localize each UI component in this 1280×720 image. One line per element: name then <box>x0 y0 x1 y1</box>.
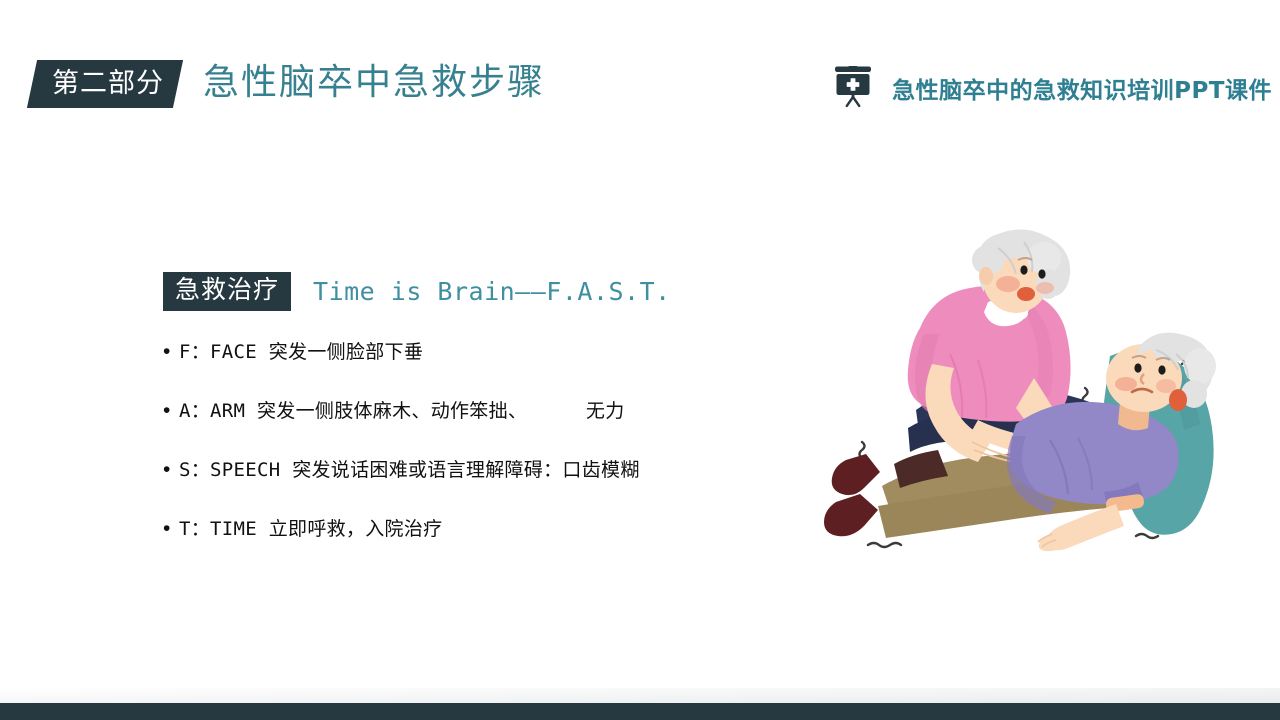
lead-chip-label: 急救治疗 <box>163 272 291 310</box>
stroke-first-aid-illustration <box>820 228 1240 573</box>
list-item: • A：ARM 突发一侧肢体麻木、动作笨拙、 无力 <box>163 397 783 456</box>
footer-gradient-wedge <box>0 688 1280 704</box>
bullet-dot-icon: • <box>163 397 179 425</box>
fast-bullet-list: • F：FACE 突发一侧脸部下垂 • A：ARM 突发一侧肢体麻木、动作笨拙、… <box>163 338 783 574</box>
lead-english-label: Time is Brain——F.A.S.T. <box>313 277 671 306</box>
list-item-text: A：ARM 突发一侧肢体麻木、动作笨拙、 无力 <box>179 397 625 425</box>
brand-lockup: 急性脑卒中的急救知识培训PPT课件 <box>832 62 1272 114</box>
shoe-lower <box>824 494 878 536</box>
lead-heading-row: 急救治疗 Time is Brain——F.A.S.T. <box>163 271 671 312</box>
footer-bar <box>0 703 1280 720</box>
brand-title: 急性脑卒中的急救知识培训PPT课件 <box>892 71 1272 105</box>
list-item-text: T：TIME 立即呼救，入院治疗 <box>179 515 442 543</box>
slide-header: 第二部分 急性脑卒中急救步骤 急性脑卒中的急救知识培训PPT课件 <box>0 0 1280 140</box>
bullet-dot-icon: • <box>163 515 179 543</box>
presentation-board-medical-cross-icon <box>832 66 874 110</box>
bullet-dot-icon: • <box>163 338 179 366</box>
bullet-dot-icon: • <box>163 456 179 484</box>
list-item: • S：SPEECH 突发说话困难或语言理解障碍：口齿模糊 <box>163 456 783 515</box>
list-item: • F：FACE 突发一侧脸部下垂 <box>163 338 783 397</box>
section-tag-label: 第二部分 <box>38 61 178 107</box>
slide-canvas: 第二部分 急性脑卒中急救步骤 急性脑卒中的急救知识培训PPT课件 急救治 <box>0 0 1280 720</box>
list-item-text: S：SPEECH 突发说话困难或语言理解障碍：口齿模糊 <box>179 456 640 484</box>
page-title: 急性脑卒中急救步骤 <box>203 58 545 108</box>
shoe-upper <box>832 454 880 495</box>
main-content: 急救治疗 Time is Brain——F.A.S.T. • F：FACE 突发… <box>0 250 780 580</box>
list-item-text: F：FACE 突发一侧脸部下垂 <box>179 338 423 366</box>
list-item: • T：TIME 立即呼救，入院治疗 <box>163 515 783 574</box>
